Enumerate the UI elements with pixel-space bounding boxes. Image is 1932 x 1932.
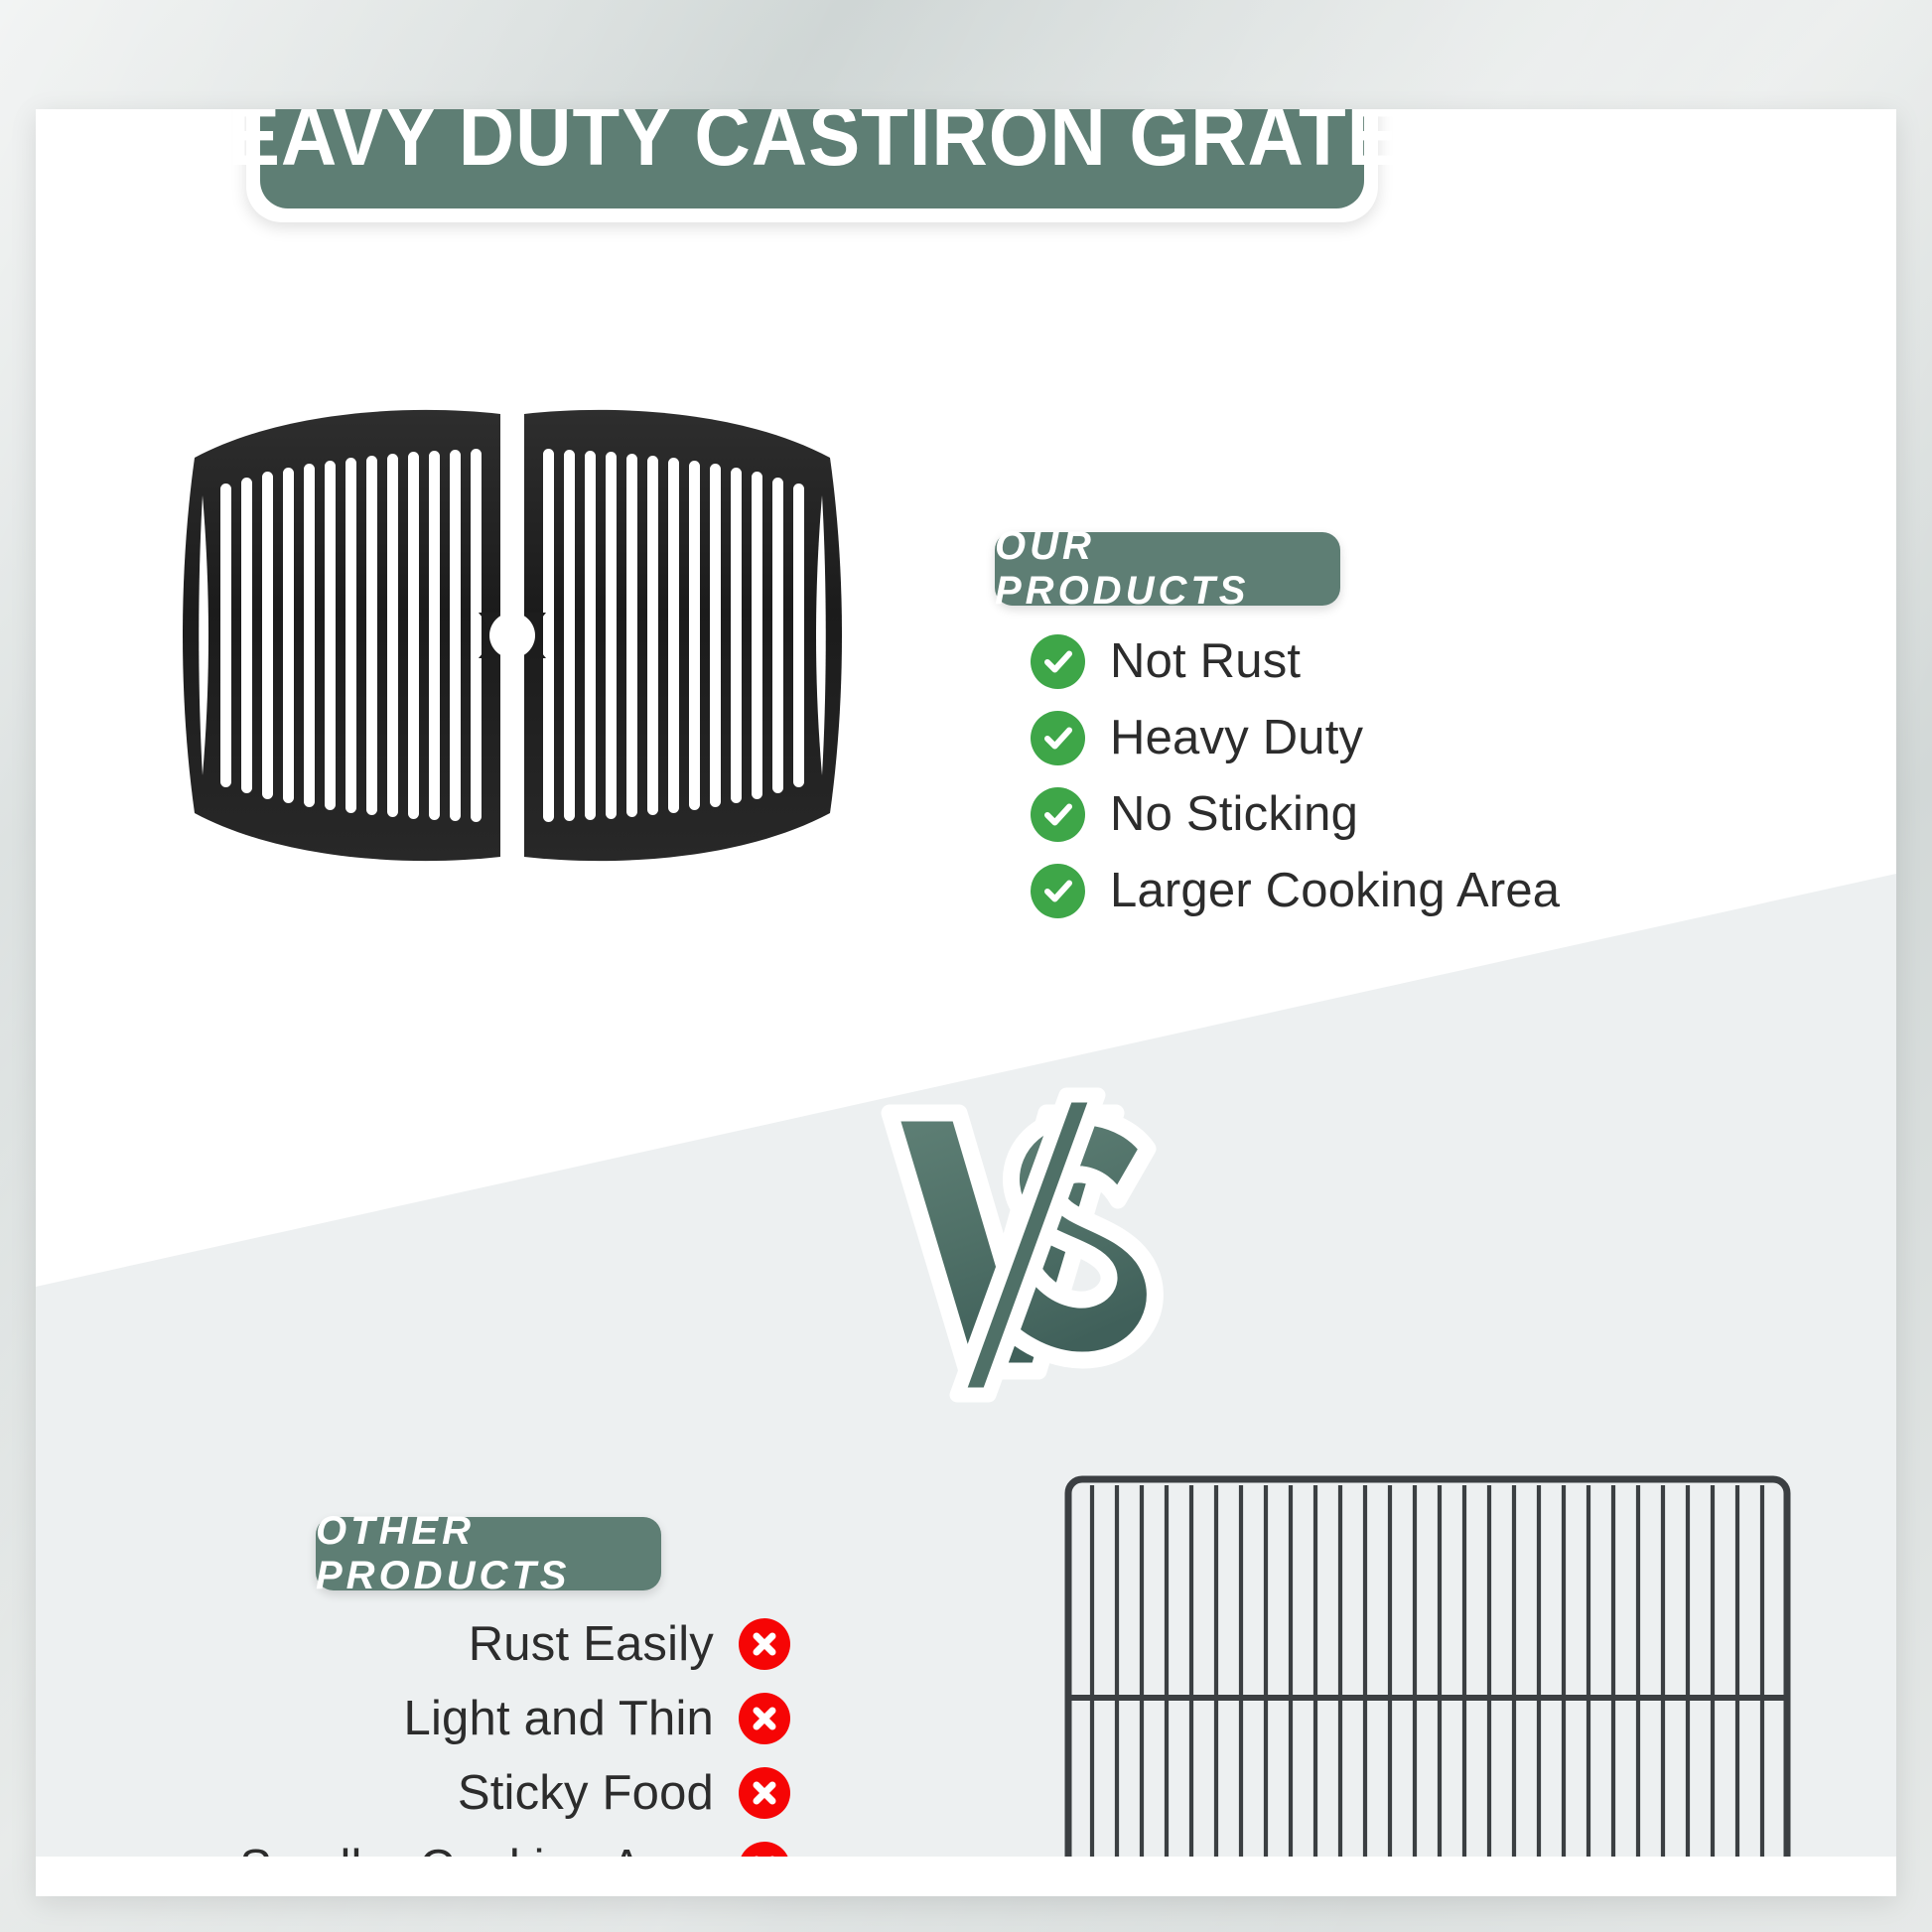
wire-grate-image <box>1060 1471 1795 1896</box>
infographic-root: HEAVY DUTY CASTIRON GRATES OUR PRODUCTS … <box>0 0 1932 1932</box>
list-item: Rust Easily <box>214 1616 790 1672</box>
list-item-label: Larger Cooking Area <box>1110 863 1560 918</box>
list-item: Sticky Food <box>214 1765 790 1821</box>
list-item-label: Heavy Duty <box>1110 710 1363 765</box>
cross-icon <box>739 1767 790 1819</box>
our-products-list: Not Rust Heavy Duty No Sticking Larger C… <box>1031 633 1560 918</box>
check-icon <box>1031 787 1085 842</box>
list-item: No Sticking <box>1031 786 1560 842</box>
check-icon <box>1031 864 1085 918</box>
content-card: HEAVY DUTY CASTIRON GRATES OUR PRODUCTS … <box>36 109 1896 1896</box>
cross-icon <box>739 1618 790 1670</box>
page-title: HEAVY DUTY CASTIRON GRATES <box>172 109 1452 178</box>
other-products-badge: OTHER PRODUCTS <box>316 1517 661 1590</box>
card-bottom-strip <box>36 1857 1896 1896</box>
cross-icon <box>739 1693 790 1744</box>
list-item: Light and Thin <box>214 1691 790 1746</box>
check-icon <box>1031 634 1085 689</box>
cast-iron-grate-image <box>165 392 860 879</box>
list-item-label: Rust Easily <box>469 1616 714 1672</box>
list-item: Larger Cooking Area <box>1031 863 1560 918</box>
versus-emblem <box>872 1087 1189 1405</box>
other-products-list: Rust Easily Light and Thin Sticky Food S… <box>214 1616 790 1895</box>
title-pill: HEAVY DUTY CASTIRON GRATES <box>260 109 1364 208</box>
list-item: Not Rust <box>1031 633 1560 689</box>
list-item-label: No Sticking <box>1110 786 1358 842</box>
list-item-label: Sticky Food <box>458 1765 714 1821</box>
list-item-label: Not Rust <box>1110 633 1301 689</box>
check-icon <box>1031 711 1085 765</box>
list-item-label: Light and Thin <box>404 1691 714 1746</box>
our-products-badge: OUR PRODUCTS <box>995 532 1340 606</box>
list-item: Heavy Duty <box>1031 710 1560 765</box>
title-banner: HEAVY DUTY CASTIRON GRATES <box>246 109 1378 222</box>
